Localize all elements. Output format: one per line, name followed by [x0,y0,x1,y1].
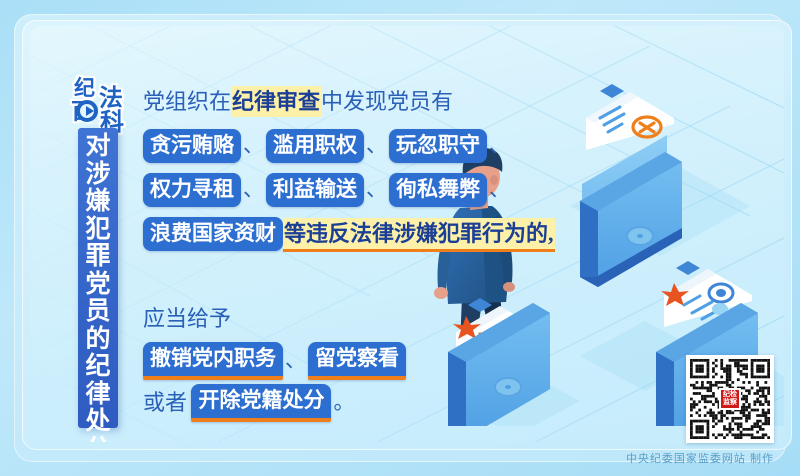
folder-top [580,84,682,287]
qr-center-logo: 纪检监察 [719,388,741,410]
vertical-title-char: 员 [78,298,118,326]
conclusion-lead: 应当给予 [143,306,231,331]
vertical-title-char: 犯 [78,216,118,244]
offence-pill[interactable]: 贪污贿赂 [143,129,241,163]
vertical-title-char: 对 [78,133,118,161]
vertical-title-char: 党 [78,271,118,299]
offence-pill[interactable]: 徇私舞弊 [389,173,487,207]
frame-inner: 百 纪 法 科 对涉嫌犯罪党员的纪律处分 党组织在纪律审查中发现党员有 贪污贿赂… [30,26,784,442]
statement-line-3: 权力寻租、利益输送、徇私舞弊、 [143,170,513,210]
vertical-title-char: 律 [78,381,118,409]
separator: 、 [241,178,266,201]
vertical-title-char: 嫌 [78,188,118,216]
statement-line-4: 浪费国家资财等违反法律涉嫌犯罪行为的, [143,214,513,254]
vertical-title-char: 分 [78,436,118,443]
line1-post: 中发现党员有 [321,89,453,114]
offence-pill[interactable]: 浪费国家资财 [143,217,283,251]
qr-center-label: 纪检监察 [721,390,739,408]
offence-pill[interactable]: 权力寻租 [143,173,241,207]
conclusion-penalties-line: 撤销党内职务、留党察看 [143,340,523,382]
footer-credit: 中央纪委国家监委网站 制作 [626,450,774,466]
penalty-pill-final[interactable]: 开除党籍处分 [191,384,331,422]
statement-line-1: 党组织在纪律审查中发现党员有 [143,82,513,122]
offence-pill[interactable]: 玩忽职守 [389,129,487,163]
penalty-pill[interactable]: 撤销党内职务 [143,342,283,380]
penalty-pill[interactable]: 留党察看 [308,342,406,380]
separator: 、 [364,134,389,157]
vertical-title-bar: 对涉嫌犯罪党员的纪律处分 [78,128,118,428]
poster-canvas: 百 纪 法 科 对涉嫌犯罪党员的纪律处分 党组织在纪律审查中发现党员有 贪污贿赂… [0,0,800,476]
line4-highlight: 等违反法律涉嫌犯罪行为的, [283,218,555,252]
period: 。 [331,391,356,414]
separator: 、 [487,134,512,157]
offence-pill[interactable]: 滥用职权 [266,129,364,163]
brand-block: 百 纪 法 科 对涉嫌犯罪党员的纪律处分 [66,70,146,430]
statement-line-2: 贪污贿赂、滥用职权、玩忽职守、 [143,126,513,166]
vertical-title-char: 纪 [78,353,118,381]
conclusion-final-line: 或者 开除党籍处分。 [143,382,523,424]
separator: 、 [364,178,389,201]
conclusion-block: 应当给予 撤销党内职务、留党察看 或者 开除党籍处分。 [143,298,523,424]
separator: 、 [283,349,308,372]
play-triangle-icon [86,106,94,116]
line1-highlight: 纪律审查 [231,86,321,117]
or-label: 或者 [143,390,187,415]
main-statement: 党组织在纪律审查中发现党员有 贪污贿赂、滥用职权、玩忽职守、 权力寻租、利益输送… [143,82,513,258]
conclusion-lead-line: 应当给予 [143,298,523,340]
offence-pill[interactable]: 利益输送 [266,173,364,207]
separator: 、 [241,134,266,157]
separator: 、 [487,178,512,201]
logo-char-ji: 纪 [74,72,95,102]
vertical-title-char: 罪 [78,243,118,271]
vertical-title-char: 涉 [78,161,118,189]
brand-logo: 百 纪 法 科 [66,70,146,132]
vertical-title-text: 对涉嫌犯罪党员的纪律处分 [78,128,118,428]
vertical-title-char: 的 [78,326,118,354]
vertical-title-char: 处 [78,408,118,436]
qr-code[interactable]: 纪检监察 [686,355,774,443]
line1-pre: 党组织在 [143,89,231,114]
